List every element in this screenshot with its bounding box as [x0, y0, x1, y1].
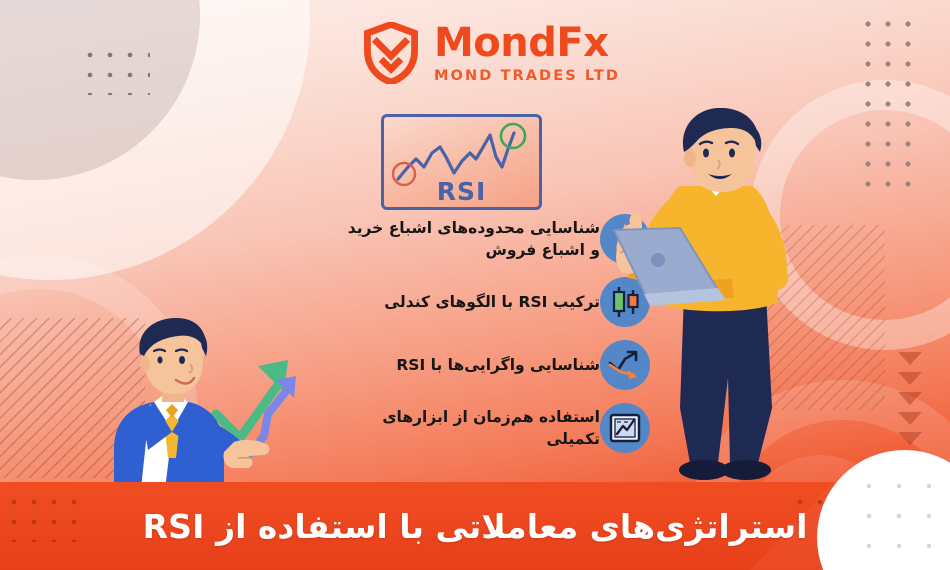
- rsi-chart-card: RSI: [381, 114, 542, 210]
- feature-item-label: شناسایی محدوده‌های اشباع خرید و اشباع فر…: [344, 217, 600, 261]
- decor-blob-top-left: [0, 0, 200, 180]
- brand-name: MondFx: [434, 23, 620, 63]
- illustration-businessman-pointing: [88, 318, 323, 498]
- feature-item-oversold-overbought: $ شناسایی محدوده‌های اشباع خرید و اشباع …: [330, 214, 650, 264]
- chevron-down-icon: [898, 392, 922, 405]
- feature-item-label: استفاده هم‌زمان از ابزارهای تکمیلی: [344, 406, 600, 450]
- rsi-card-label: RSI: [384, 177, 539, 206]
- decor-dot-grid-top-left: [80, 45, 150, 95]
- shield-checkmark-icon: [360, 22, 422, 84]
- feature-item-complementary-tools: استفاده هم‌زمان از ابزارهای تکمیلی: [330, 403, 650, 453]
- feature-list: $ شناسایی محدوده‌های اشباع خرید و اشباع …: [330, 214, 650, 466]
- chevron-down-icon: [898, 352, 922, 365]
- feature-item-label: ترکیب RSI با الگوهای کندلی: [344, 291, 600, 313]
- page-headline: استراتژی‌های معاملاتی با استفاده از RSI: [0, 482, 950, 570]
- feature-item-divergence: شناسایی واگرایی‌ها با RSI: [330, 340, 650, 390]
- decor-swoosh-top-left: [0, 0, 310, 280]
- feature-item-label: شناسایی واگرایی‌ها با RSI: [344, 354, 600, 376]
- chevron-down-icon: [898, 372, 922, 385]
- chevron-down-icon: [898, 412, 922, 425]
- illustration-man-with-laptop: [606, 108, 866, 488]
- feature-item-candlestick-patterns: ترکیب RSI با الگوهای کندلی: [330, 277, 650, 327]
- chevron-down-icon: [898, 452, 922, 465]
- brand-tagline: MOND TRADES LTD: [434, 69, 620, 84]
- decor-dot-grid-top-right: [858, 14, 920, 192]
- infographic-canvas: MondFx MOND TRADES LTD RSI $ شناسایی محد…: [0, 0, 950, 570]
- brand-logo: MondFx MOND TRADES LTD: [360, 22, 620, 84]
- chevron-down-icon: [898, 432, 922, 445]
